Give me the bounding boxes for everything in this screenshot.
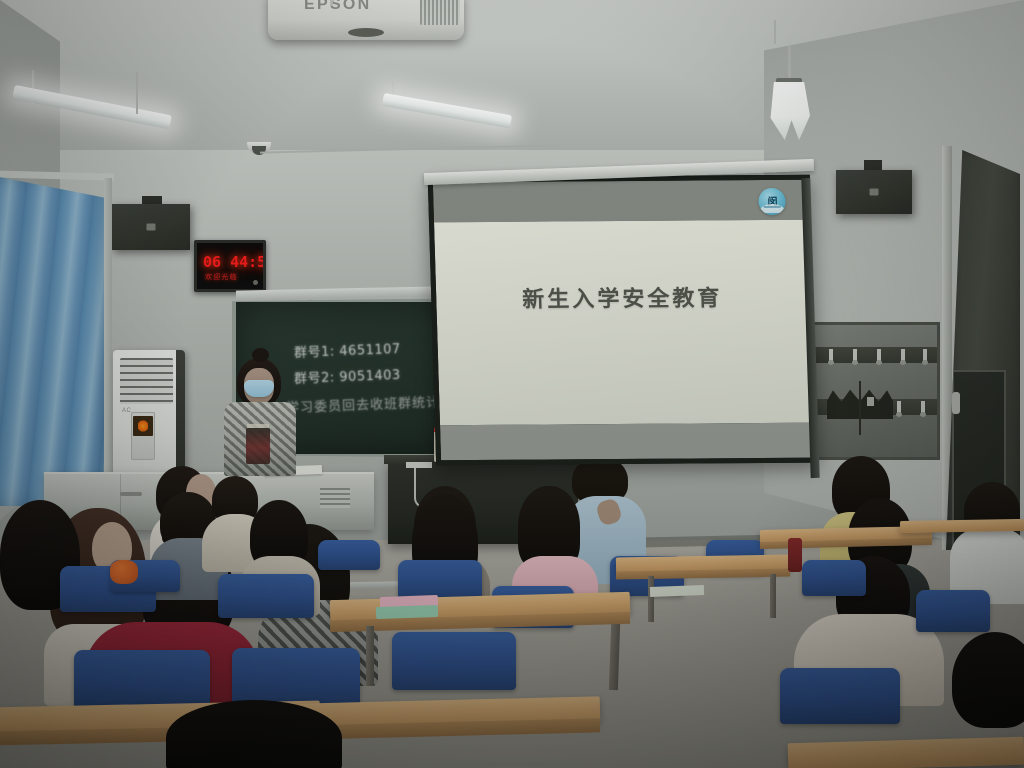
classroom-chair[interactable] [392, 632, 516, 690]
classroom-chair[interactable] [780, 668, 900, 724]
ac-side-trim [176, 350, 185, 485]
light-rod [136, 72, 138, 114]
coat-hook-icon[interactable] [877, 349, 881, 362]
ac-grille-icon [120, 358, 173, 404]
student-hair [952, 632, 1024, 728]
classroom-desk[interactable] [788, 737, 1024, 768]
wall-speaker-left-icon [112, 204, 190, 250]
umbrella-tag [867, 397, 874, 406]
ac-display-icon [133, 416, 153, 436]
chalk-text-line-2: 群号2: 9051403 [294, 364, 401, 387]
led-time-text: 06 44:56 [203, 253, 261, 271]
desk-leg [770, 574, 776, 618]
jacket-print-graphic [246, 428, 270, 464]
slide-title-text: 新生入学安全教育 [436, 280, 809, 315]
cabinet-handle-icon[interactable] [120, 492, 142, 496]
face-mask-icon [244, 380, 274, 397]
coat-hook-icon[interactable] [853, 349, 857, 362]
floor-air-conditioner[interactable]: AC [113, 350, 185, 485]
led-display-sign: 06 44:56 欢迎光临 [194, 240, 266, 292]
desk-leg [648, 576, 654, 622]
wall-speaker-right-icon [836, 170, 912, 214]
window-curtain[interactable] [0, 176, 112, 506]
classroom-photo: EPSON 06 44:56 欢迎光临 AC 群号1: 4651107 群号2:… [0, 0, 1024, 768]
projector-brand-label: EPSON [304, 0, 372, 14]
slide-top-band [433, 180, 806, 223]
chalk-text-line-1: 群号1: 4651107 [294, 338, 401, 361]
wall-coat-rack [812, 322, 940, 460]
thermos-bottle[interactable] [788, 538, 802, 572]
cabinet-vent-icon [320, 488, 350, 508]
coat-hook-icon[interactable] [921, 401, 925, 414]
ac-brand-label: AC [122, 408, 131, 414]
presenter-hair-bun [252, 348, 269, 362]
coat-hook-icon[interactable] [901, 349, 905, 362]
projection-screen: 新生入学安全教育 闵 [428, 175, 819, 466]
light-rod [774, 20, 776, 44]
window-frame [104, 178, 112, 494]
coat-hook-icon[interactable] [923, 349, 927, 362]
paper-sheet[interactable] [650, 585, 704, 597]
university-logo-badge-icon: 闵 [758, 188, 786, 215]
umbrella-handle [859, 381, 861, 435]
led-indicator-icon [253, 280, 258, 285]
coat-hook-icon[interactable] [897, 401, 901, 414]
classroom-chair[interactable] [802, 560, 866, 596]
classroom-chair[interactable] [218, 574, 314, 618]
classroom-chair[interactable] [318, 540, 380, 570]
classroom-chair[interactable] [916, 590, 990, 632]
projector-mount [330, 0, 333, 6]
chalk-text-line-3: 学习委员回去收班群统计表 [286, 391, 455, 416]
projector-vent-icon [420, 0, 460, 25]
student-hair [166, 700, 342, 768]
classroom-desk[interactable] [900, 519, 1024, 533]
notebook-green[interactable] [376, 605, 438, 619]
coat-hook-icon[interactable] [829, 349, 833, 362]
slide-bottom-band [440, 423, 813, 460]
ceiling-projector: EPSON [268, 0, 464, 40]
projector-lens-icon [348, 28, 384, 37]
slide-body [434, 220, 812, 425]
presenter-at-blackboard [222, 350, 298, 475]
logo-arc-icon [759, 204, 786, 213]
orange-bag [110, 560, 138, 584]
door-handle-icon[interactable] [952, 392, 960, 414]
